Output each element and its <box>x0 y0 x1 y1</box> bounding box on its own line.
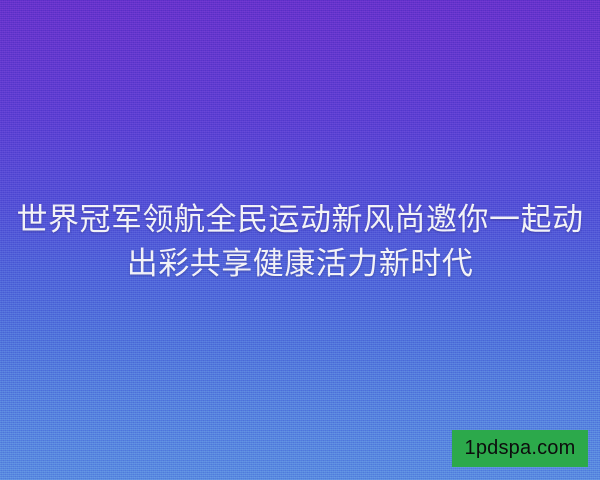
headline-line-1: 世界冠军领航全民运动新风尚邀你一起动 <box>0 198 600 242</box>
watermark-badge: 1pdspa.com <box>452 430 588 467</box>
poster-image: 世界冠军领航全民运动新风尚邀你一起动 出彩共享健康活力新时代 1pdspa.co… <box>0 0 600 480</box>
poster-headline: 世界冠军领航全民运动新风尚邀你一起动 出彩共享健康活力新时代 <box>0 198 600 286</box>
watermark-label: 1pdspa.com <box>465 437 576 460</box>
headline-line-2: 出彩共享健康活力新时代 <box>0 242 600 286</box>
